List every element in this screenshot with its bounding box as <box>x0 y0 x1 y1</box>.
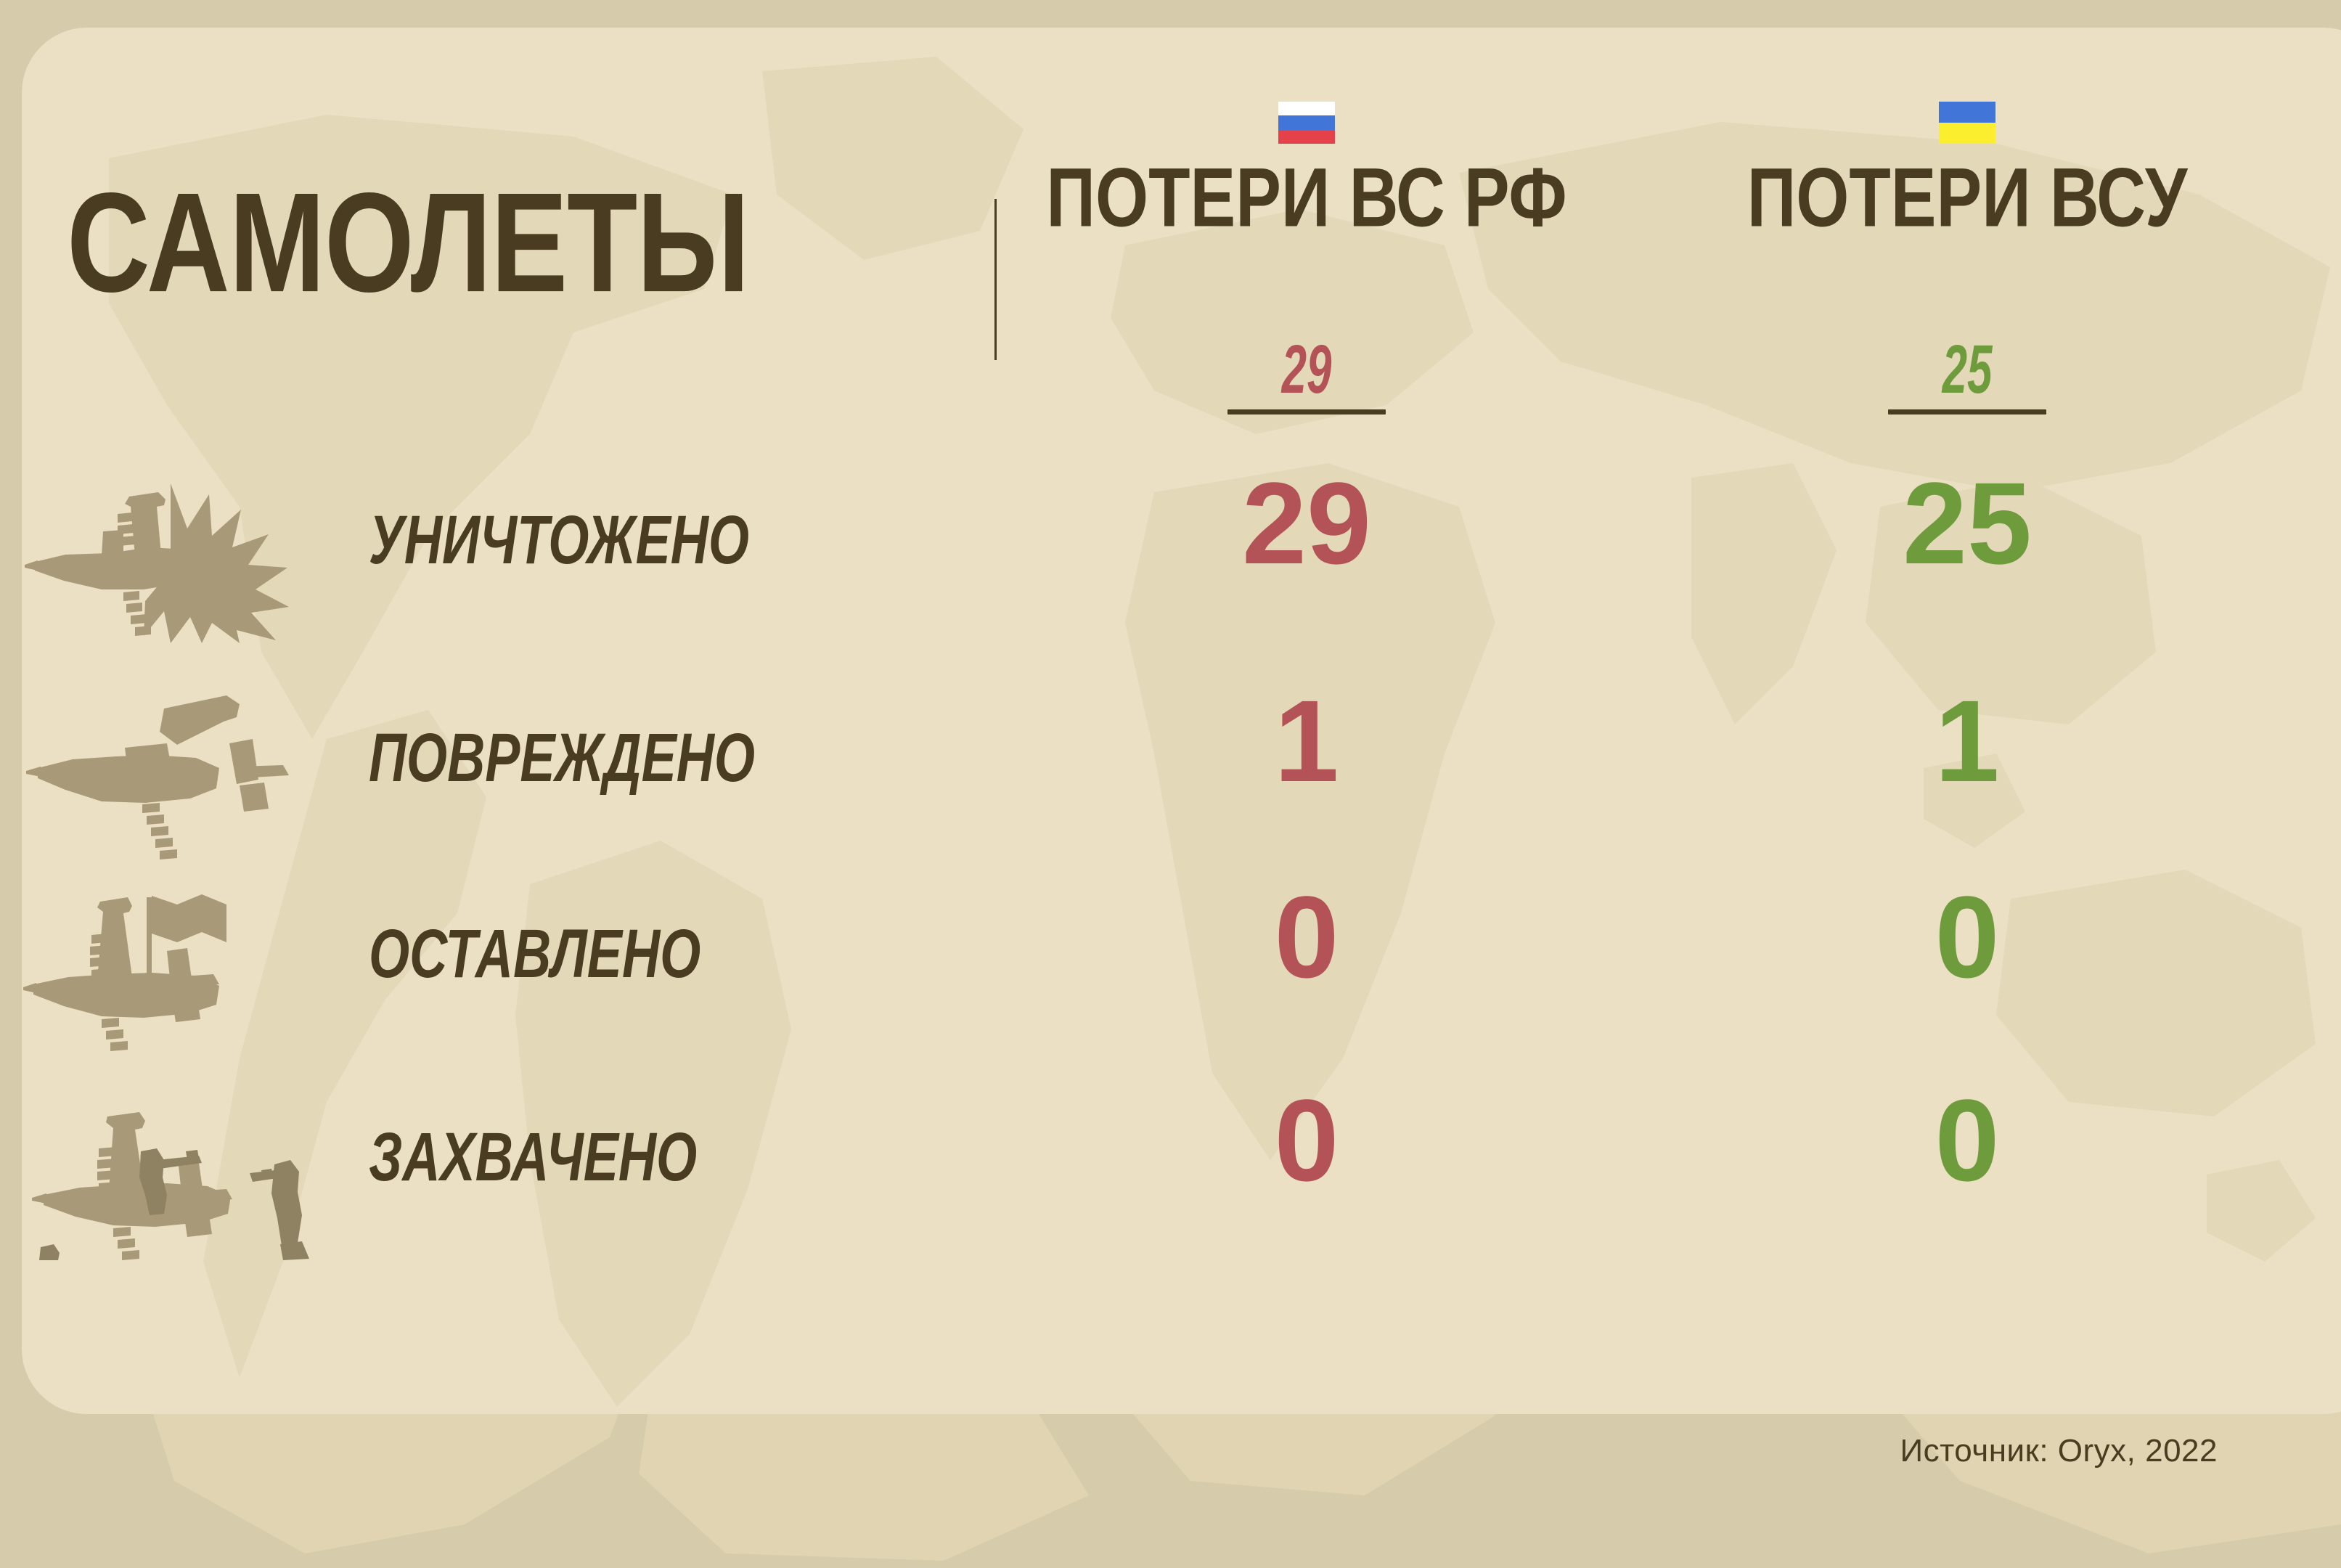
source-credit: Источник: Oryx, 2022 <box>1900 1434 2218 1469</box>
column-header-label-ukraine: ПОТЕРИ ВСУ <box>1677 155 2258 240</box>
row-label: ОСТАВЛЕНО <box>369 920 700 989</box>
table-row: УНИЧТОЖЕНО 29 25 <box>22 462 2341 643</box>
infographic-stage: САМОЛЕТЫ ПОТЕРИ ВС РФ <box>0 0 2341 1568</box>
row-label: УНИЧТОЖЕНО <box>369 507 749 575</box>
russia-flag-icon <box>1278 102 1335 144</box>
page-title: САМОЛЕТЫ <box>67 171 749 313</box>
row-value-ukraine: 1 <box>1677 679 2258 803</box>
column-header-russia: ПОТЕРИ ВС РФ <box>1016 28 1597 225</box>
table-row: ЗАХВАЧЕНО 0 0 <box>22 1079 2341 1260</box>
aircraft-destroyed-icon <box>22 462 327 643</box>
aircraft-abandoned-flag-icon <box>22 875 327 1057</box>
row-label: ПОВРЕЖДЕНО <box>369 724 755 793</box>
row-value-russia: 0 <box>1016 875 1597 999</box>
row-value-russia: 1 <box>1016 679 1597 803</box>
row-label: ЗАХВАЧЕНО <box>369 1124 697 1192</box>
total-value-ukraine: 25 <box>1942 335 1993 404</box>
row-value-russia: 0 <box>1016 1079 1597 1202</box>
russia-flag-wrap <box>1016 28 1597 144</box>
aircraft-captured-soldiers-icon <box>22 1079 327 1260</box>
total-value-russia: 29 <box>1282 335 1332 404</box>
table-row: ПОВРЕЖДЕНО 1 1 <box>22 679 2341 861</box>
row-value-ukraine: 25 <box>1677 462 2258 585</box>
table-row: ОСТАВЛЕНО 0 0 <box>22 875 2341 1057</box>
stats-card: САМОЛЕТЫ ПОТЕРИ ВС РФ <box>22 28 2341 1414</box>
card-header: САМОЛЕТЫ ПОТЕРИ ВС РФ <box>22 28 2341 369</box>
row-value-ukraine: 0 <box>1677 875 2258 999</box>
aircraft-damaged-icon <box>22 679 327 861</box>
total-rule-ukraine <box>1888 409 2046 415</box>
row-value-russia: 29 <box>1016 462 1597 585</box>
column-header-label-russia: ПОТЕРИ ВС РФ <box>1016 155 1597 240</box>
title-divider <box>994 199 997 360</box>
total-russia: 29 <box>1016 335 1597 415</box>
total-rule-russia <box>1227 409 1386 415</box>
ukraine-flag-icon <box>1939 102 1995 144</box>
column-header-ukraine: ПОТЕРИ ВСУ <box>1677 28 2258 225</box>
ukraine-flag-wrap <box>1677 28 2258 144</box>
total-ukraine: 25 <box>1677 335 2258 415</box>
row-value-ukraine: 0 <box>1677 1079 2258 1202</box>
